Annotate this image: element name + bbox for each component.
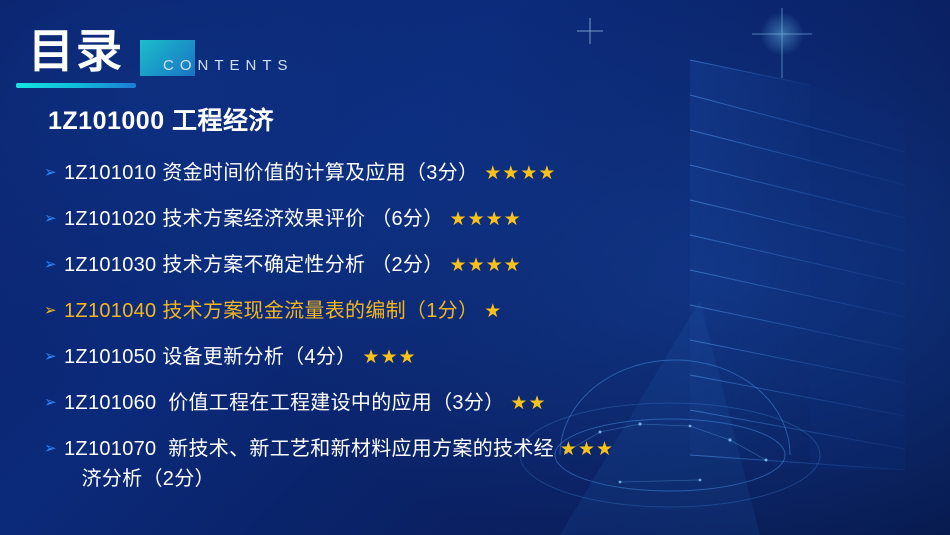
chevron-right-icon: ➢ (44, 162, 64, 184)
toc-item-content: 1Z101010 资金时间价值的计算及应用（3分）★★★★ (64, 158, 556, 188)
chevron-right-icon: ➢ (44, 438, 64, 460)
star-rating-icon: ★★★ (560, 438, 614, 461)
toc-item-label: 1Z101050 设备更新分析（4分） (64, 342, 356, 372)
slide-header: 目录 CONTENTS (0, 0, 950, 96)
chevron-right-icon: ➢ (44, 254, 64, 276)
contents-label: CONTENTS (163, 57, 294, 74)
toc-item-content: 1Z101060 价值工程在工程建设中的应用（3分）★★ (64, 388, 547, 418)
toc-item-content: 1Z101050 设备更新分析（4分）★★★ (64, 342, 417, 372)
title-underline (16, 83, 136, 88)
star-rating-icon: ★ (484, 300, 502, 323)
toc-item-label: 1Z101020 技术方案经济效果评价 （6分） (64, 204, 444, 234)
star-rating-icon: ★★★★ (484, 162, 556, 185)
toc-item[interactable]: ➢1Z101050 设备更新分析（4分）★★★ (44, 342, 704, 372)
toc-item-content: 1Z101020 技术方案经济效果评价 （6分）★★★★ (64, 204, 522, 234)
toc-item-content: 1Z101040 技术方案现金流量表的编制（1分）★ (64, 296, 502, 326)
star-rating-icon: ★★★★ (450, 208, 522, 231)
toc-item[interactable]: ➢1Z101070 新技术、新工艺和新材料应用方案的技术经 济分析（2分）★★★ (44, 434, 704, 494)
toc-item-label: 1Z101030 技术方案不确定性分析 （2分） (64, 250, 444, 280)
star-rating-icon: ★★ (510, 392, 546, 415)
chevron-right-icon: ➢ (44, 208, 64, 230)
chapter-title: 1Z101000 工程经济 (48, 101, 274, 137)
toc-item-content: 1Z101070 新技术、新工艺和新材料应用方案的技术经 济分析（2分）★★★ (64, 434, 614, 494)
star-rating-icon: ★★★★ (450, 254, 522, 277)
toc-item[interactable]: ➢1Z101010 资金时间价值的计算及应用（3分）★★★★ (44, 158, 704, 188)
chevron-right-icon: ➢ (44, 346, 64, 368)
slide-root: 目录 CONTENTS 1Z101000 工程经济 ➢1Z101010 资金时间… (0, 0, 950, 535)
toc-item-label: 1Z101060 价值工程在工程建设中的应用（3分） (64, 388, 504, 418)
toc-item[interactable]: ➢1Z101020 技术方案经济效果评价 （6分）★★★★ (44, 204, 704, 234)
page-title: 目录 (28, 26, 124, 76)
chevron-right-icon: ➢ (44, 392, 64, 414)
chevron-right-icon: ➢ (44, 300, 64, 322)
toc-item[interactable]: ➢1Z101040 技术方案现金流量表的编制（1分）★ (44, 296, 704, 326)
star-rating-icon: ★★★ (362, 346, 416, 369)
toc-item[interactable]: ➢1Z101060 价值工程在工程建设中的应用（3分）★★ (44, 388, 704, 418)
toc-item-content: 1Z101030 技术方案不确定性分析 （2分）★★★★ (64, 250, 522, 280)
toc-item-label: 1Z101070 新技术、新工艺和新材料应用方案的技术经 济分析（2分） (64, 434, 554, 494)
toc-item-label: 1Z101040 技术方案现金流量表的编制（1分） (64, 296, 478, 326)
toc-item-label: 1Z101010 资金时间价值的计算及应用（3分） (64, 158, 478, 188)
toc-item[interactable]: ➢1Z101030 技术方案不确定性分析 （2分）★★★★ (44, 250, 704, 280)
toc-list: ➢1Z101010 资金时间价值的计算及应用（3分）★★★★➢1Z101020 … (44, 158, 704, 510)
